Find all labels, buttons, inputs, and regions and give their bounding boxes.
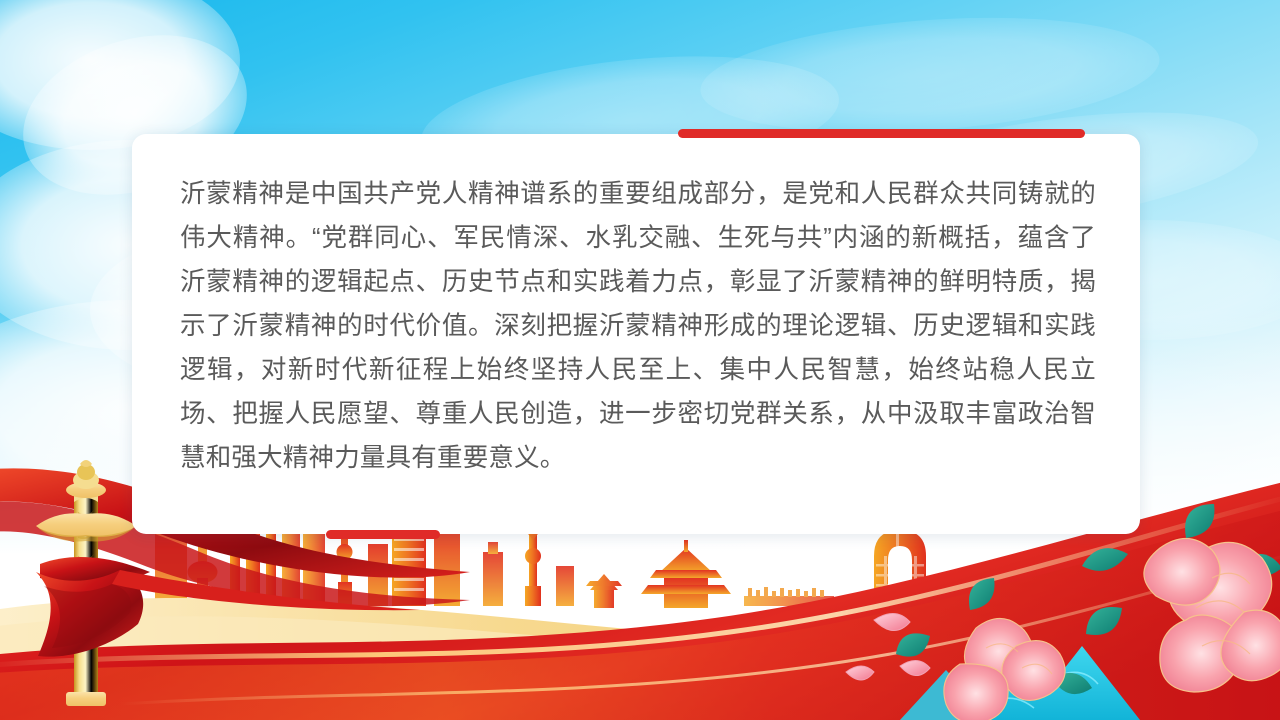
body-paragraph: 沂蒙精神是中国共产党人精神谱系的重要组成部分，是党和人民群众共同铸就的伟大精神。…: [180, 172, 1096, 480]
bottom-accent-bar: [326, 530, 440, 539]
cloud-shape: [697, 4, 1164, 146]
content-card: 沂蒙精神是中国共产党人精神谱系的重要组成部分，是党和人民群众共同铸就的伟大精神。…: [132, 134, 1140, 534]
pagoda-silhouette-large: [641, 540, 731, 608]
card-body: 沂蒙精神是中国共产党人精神谱系的重要组成部分，是党和人民群众共同铸就的伟大精神。…: [180, 172, 1096, 480]
slide-canvas: 沂蒙精神是中国共产党人精神谱系的重要组成部分，是党和人民群众共同铸就的伟大精神。…: [0, 0, 1280, 720]
cloud-shape: [0, 0, 240, 150]
top-accent-bar: [678, 129, 1085, 138]
pagoda-silhouette: [586, 574, 622, 608]
